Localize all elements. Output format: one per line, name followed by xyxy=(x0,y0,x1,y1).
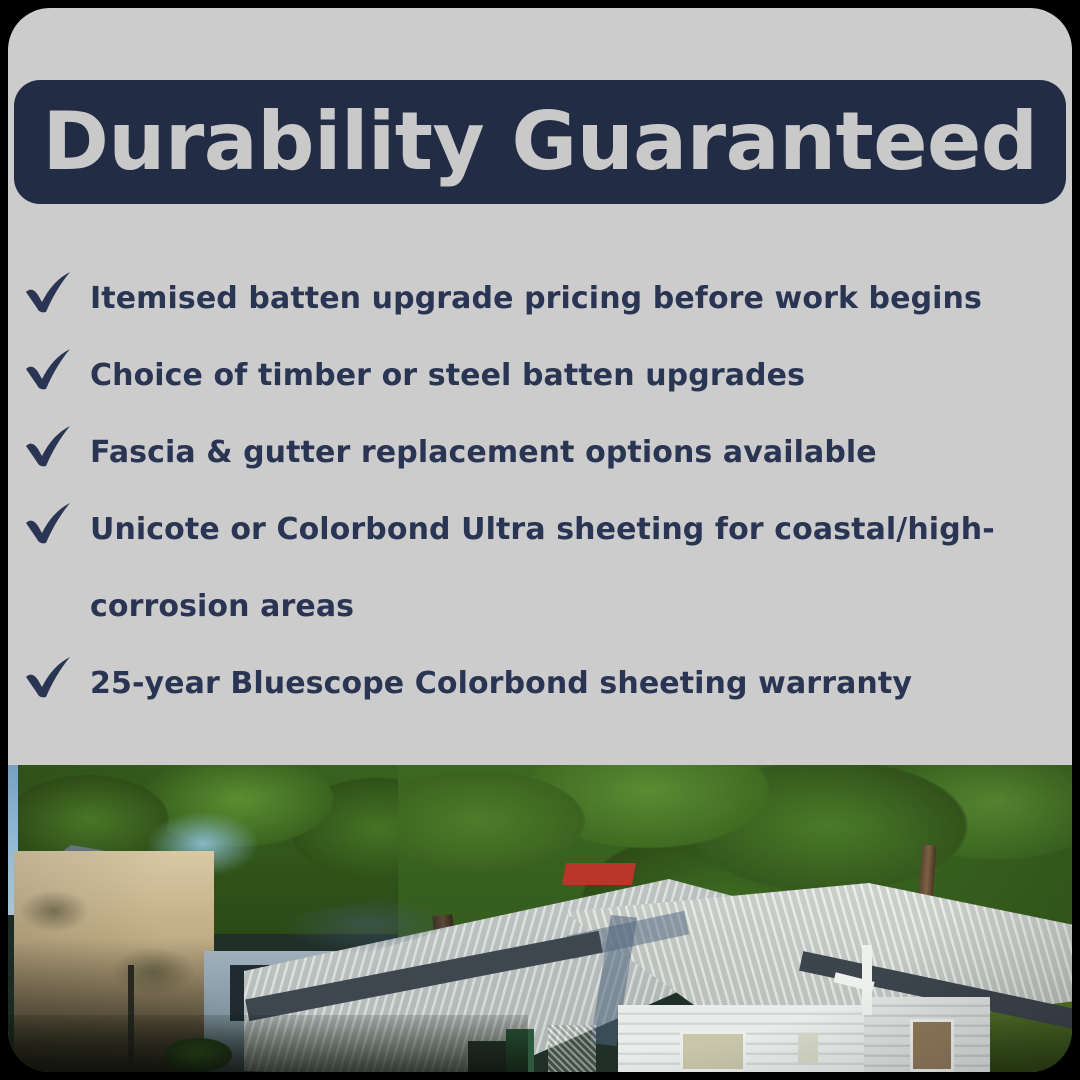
check-mark-icon xyxy=(22,268,76,316)
roof-photo xyxy=(8,765,1072,1072)
list-item: Unicote or Colorbond Ultra sheeting for … xyxy=(8,491,1072,645)
list-item-label: Unicote or Colorbond Ultra sheeting for … xyxy=(90,491,1072,645)
check-mark-icon xyxy=(22,422,76,470)
header-banner: Durability Guaranteed xyxy=(14,80,1066,204)
list-item: Fascia & gutter replacement options avai… xyxy=(8,414,1072,491)
list-item-label: Choice of timber or steel batten upgrade… xyxy=(90,337,1072,414)
list-item: 25-year Bluescope Colorbond sheeting war… xyxy=(8,645,1072,722)
feature-checklist: Itemised batten upgrade pricing before w… xyxy=(8,260,1072,722)
photo-vignette xyxy=(8,765,1072,1072)
list-item-label: 25-year Bluescope Colorbond sheeting war… xyxy=(90,645,1072,722)
list-item-label: Itemised batten upgrade pricing before w… xyxy=(90,260,1072,337)
list-item: Itemised batten upgrade pricing before w… xyxy=(8,260,1072,337)
list-item-label: Fascia & gutter replacement options avai… xyxy=(90,414,1072,491)
page-title: Durability Guaranteed xyxy=(42,102,1037,182)
check-mark-icon xyxy=(22,499,76,547)
check-mark-icon xyxy=(22,653,76,701)
list-item: Choice of timber or steel batten upgrade… xyxy=(8,337,1072,414)
check-mark-icon xyxy=(22,345,76,393)
promo-card: Durability Guaranteed Itemised batten up… xyxy=(8,8,1072,1072)
